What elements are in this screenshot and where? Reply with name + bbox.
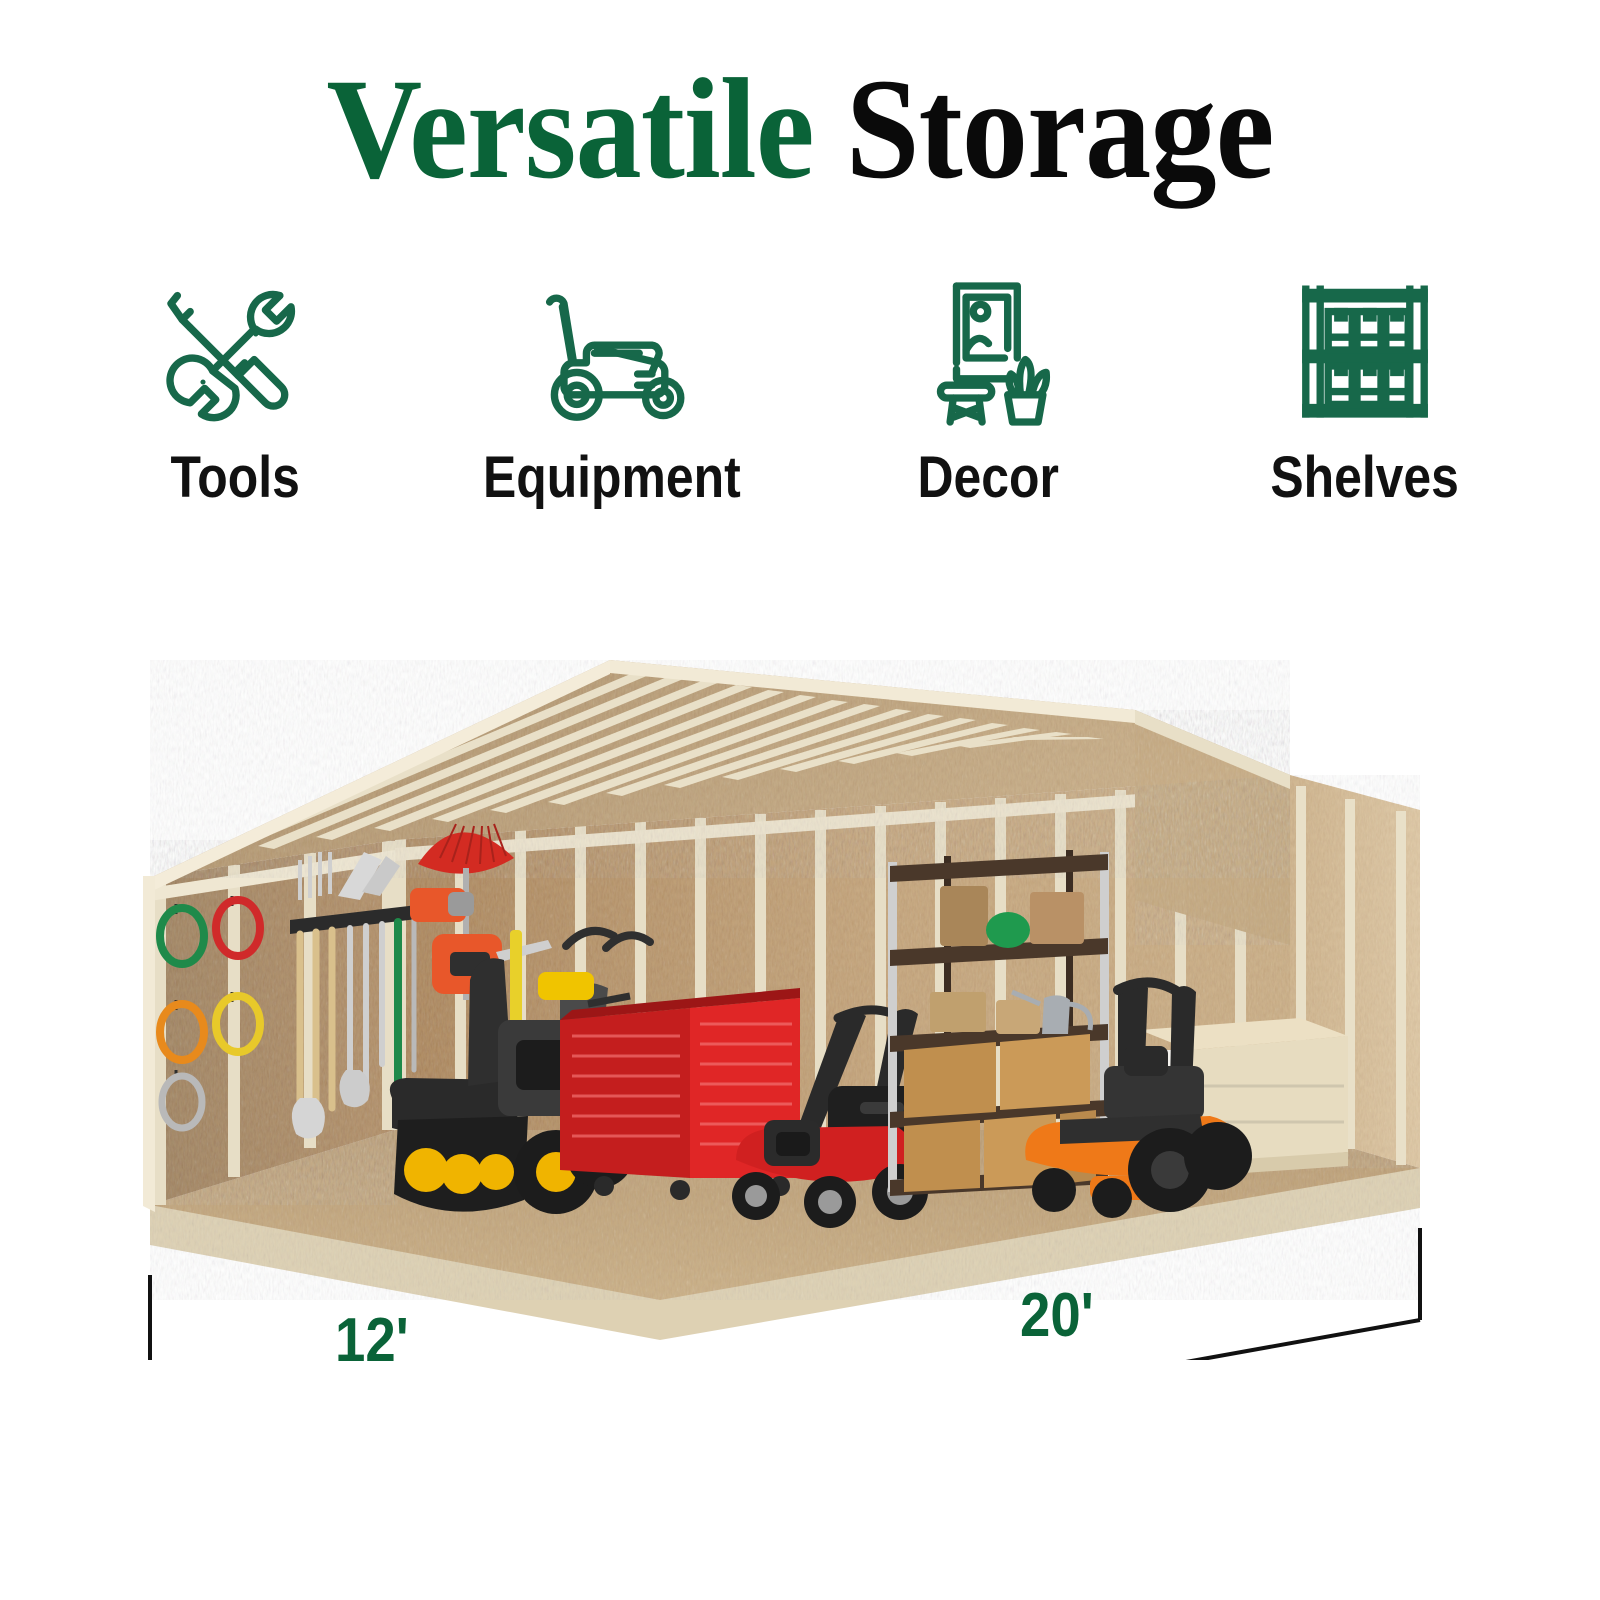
dimension-length-label: 20' bbox=[1020, 1280, 1094, 1351]
infographic-page: Versatile Storage bbox=[0, 0, 1600, 1600]
feature-tools: Tools bbox=[60, 270, 410, 511]
corner-post bbox=[143, 876, 155, 1212]
dimension-width-label: 12' bbox=[335, 1305, 409, 1376]
feature-label-equipment: Equipment bbox=[483, 444, 741, 511]
storage-shed-illustration bbox=[0, 600, 1600, 1360]
feature-shelves: Shelves bbox=[1190, 270, 1540, 511]
wicker-basket bbox=[940, 886, 988, 946]
decor-icon bbox=[901, 270, 1076, 430]
page-title: Versatile Storage bbox=[64, 58, 1536, 202]
feature-decor: Decor bbox=[813, 270, 1163, 511]
title-word-black: Storage bbox=[846, 50, 1274, 209]
feature-label-shelves: Shelves bbox=[1271, 444, 1460, 511]
feature-label-decor: Decor bbox=[918, 444, 1059, 511]
shelves-icon bbox=[1275, 270, 1455, 430]
title-word-green: Versatile bbox=[326, 50, 813, 209]
lawnmower-icon bbox=[517, 270, 707, 430]
feature-label-tools: Tools bbox=[170, 444, 299, 511]
wicker-bin bbox=[996, 1000, 1040, 1034]
wood-crate bbox=[930, 992, 986, 1032]
storage-basket bbox=[1030, 892, 1084, 944]
tools-icon bbox=[145, 270, 325, 430]
green-bowl bbox=[986, 912, 1030, 948]
feature-row: Tools bbox=[60, 270, 1540, 520]
feature-equipment: Equipment bbox=[437, 270, 787, 511]
watering-can bbox=[1042, 995, 1070, 1034]
